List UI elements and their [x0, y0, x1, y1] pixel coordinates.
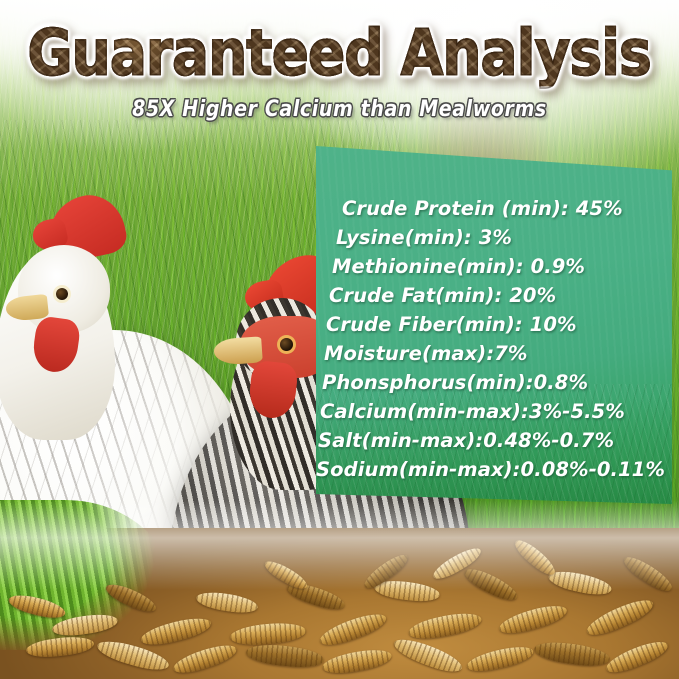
nutrition-row-moisture: Moisture(max):7% — [324, 342, 528, 365]
barred-hen-eye — [280, 338, 293, 351]
nutrition-row-phosphorus: Phonsphorus(min):0.8% — [322, 371, 588, 394]
mealworm-haze-overlay — [0, 500, 679, 590]
nutrition-row-crude-protein: Crude Protein (min): 45% — [342, 197, 623, 220]
guaranteed-analysis-panel: Crude Protein (min): 45% Lysine(min): 3%… — [316, 146, 672, 504]
nutrition-row-crude-fiber: Crude Fiber(min): 10% — [326, 313, 577, 336]
nutrition-list: Crude Protein (min): 45% Lysine(min): 3%… — [316, 146, 672, 504]
nutrition-row-calcium: Calcium(min-max):3%-5.5% — [320, 400, 625, 423]
white-hen-eye — [56, 288, 68, 300]
nutrition-row-lysine: Lysine(min): 3% — [336, 226, 512, 249]
nutrition-row-methionine: Methionine(min): 0.9% — [332, 255, 585, 278]
nutrition-row-crude-fat: Crude Fat(min): 20% — [329, 284, 556, 307]
product-infographic-poster: Guaranteed Analysis 85X Higher Calcium t… — [0, 0, 679, 679]
nutrition-row-salt: Salt(min-max):0.48%-0.7% — [318, 429, 614, 452]
nutrition-row-sodium: Sodium(min-max):0.08%-0.11% — [316, 458, 665, 481]
